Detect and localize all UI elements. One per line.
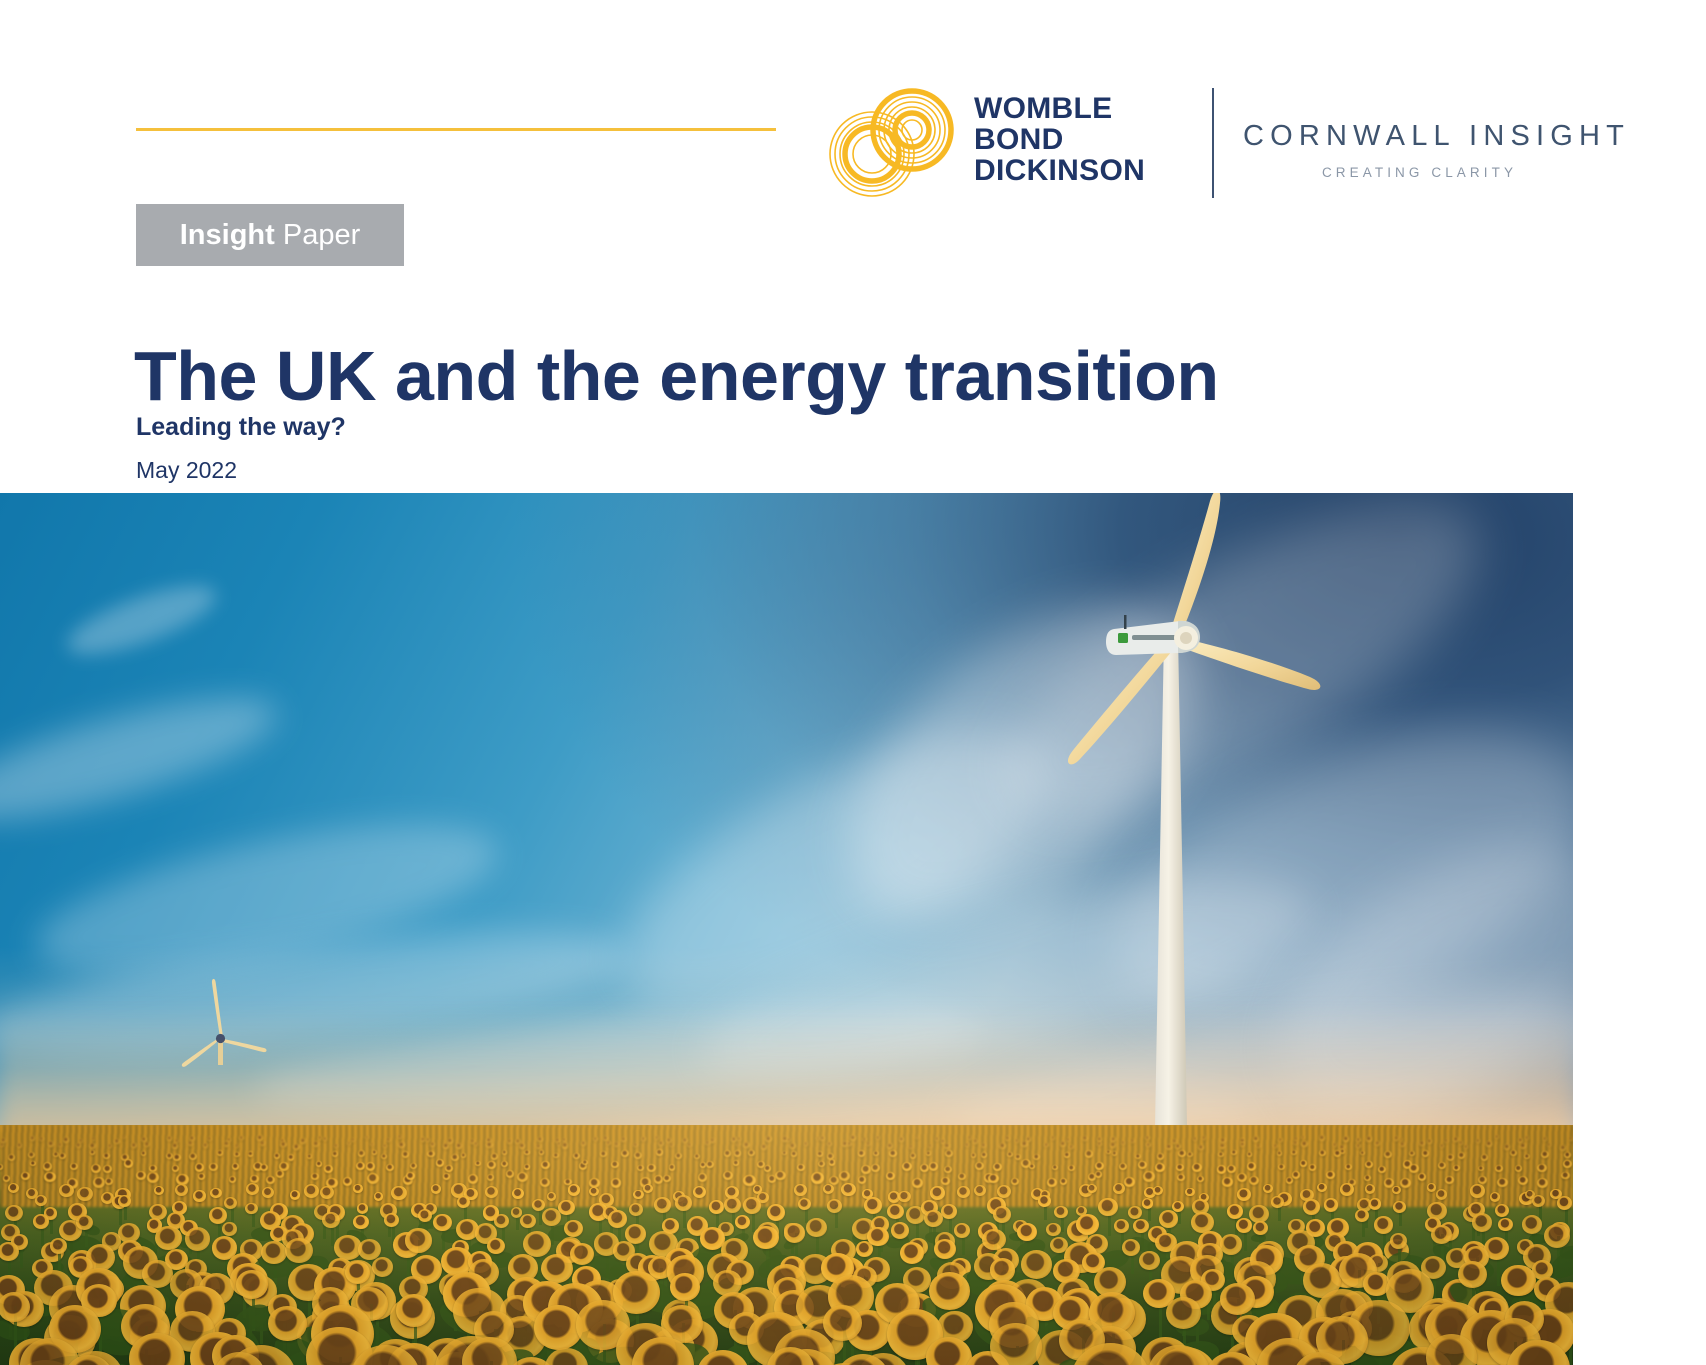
sunflower-leaf <box>1457 1257 1495 1281</box>
sunflower-head <box>1547 1143 1551 1147</box>
wind-turbine-icon <box>1060 493 1380 1187</box>
sunflower-head <box>222 1222 236 1235</box>
sunflower-head <box>487 1174 495 1181</box>
sunflower-head <box>1357 1198 1372 1212</box>
sunflower-stem <box>1474 1253 1477 1292</box>
sunflower-head <box>607 1279 632 1302</box>
sunflower-stem <box>915 1334 918 1365</box>
sunflower-head <box>501 1161 508 1167</box>
sunflower-head <box>131 1143 137 1148</box>
sunflower-head <box>77 1187 93 1201</box>
sunflower-leaf <box>1335 1248 1356 1262</box>
sunflower-stem <box>843 1250 846 1288</box>
sunflower-head <box>1409 1151 1415 1157</box>
sunflower-head <box>198 1173 205 1180</box>
sunflower-head <box>1101 1298 1146 1339</box>
sunflower-stem <box>551 1217 554 1245</box>
sunflower-stem <box>1476 1257 1479 1295</box>
sunflower-stem <box>804 1357 807 1365</box>
sunflower-stem <box>949 1211 952 1235</box>
sunflower-leaf <box>1545 1243 1573 1285</box>
sunflower-head <box>616 1323 676 1365</box>
sunflower-leaf <box>125 1270 162 1291</box>
sunflower-head <box>723 1171 733 1180</box>
sunflower-leaf <box>1073 1276 1100 1294</box>
sunflower-stem <box>58 1246 61 1272</box>
sunflower-leaf <box>1199 1256 1239 1290</box>
sunflower-stem <box>1016 1346 1019 1365</box>
sunflower-head <box>1054 1206 1067 1218</box>
sunflower-head <box>253 1162 263 1171</box>
sunflower-head <box>120 1285 166 1327</box>
sunflower-stem <box>1148 1203 1151 1220</box>
sunflower-head <box>520 1214 536 1229</box>
sunflower-stem <box>225 1248 228 1286</box>
sunflower-head <box>396 1294 432 1327</box>
sunflower-stem <box>388 1211 391 1237</box>
sunflower-head <box>224 1141 230 1146</box>
sunflower-head <box>512 1188 524 1199</box>
sunflower-stem <box>1079 1231 1082 1266</box>
sunflower-head <box>1119 1163 1127 1171</box>
sunflower-head <box>1537 1164 1546 1173</box>
sunflower-head <box>141 1151 147 1156</box>
sunflower-head <box>1436 1189 1448 1200</box>
sunflower-head <box>320 1186 334 1199</box>
sunflower-stem <box>9 1290 12 1338</box>
sunflower-stem <box>990 1253 993 1292</box>
sunflower-stem <box>1532 1224 1535 1254</box>
sunflower-head <box>405 1228 431 1252</box>
sunflower-head <box>1141 1337 1190 1365</box>
sunflower-head <box>456 1219 479 1240</box>
sunflower-head <box>486 1142 492 1148</box>
sunflower-leaf <box>173 1263 209 1284</box>
sunflower-head <box>1387 1261 1421 1293</box>
sunflower-stem <box>1399 1207 1402 1226</box>
sunflower-head <box>1121 1141 1125 1145</box>
sunflower-leaf <box>107 1359 169 1365</box>
sunflower-head <box>648 1256 673 1279</box>
sunflower-head <box>1365 1161 1372 1168</box>
sunflower-head <box>1291 1150 1297 1155</box>
sunflower-head <box>76 1143 81 1148</box>
sunflower-head <box>1089 1292 1135 1334</box>
sunflower-stem <box>151 1335 154 1365</box>
sunflower-stem <box>1397 1250 1400 1288</box>
sunflower-head <box>974 1185 986 1196</box>
sunflower-head <box>441 1247 472 1276</box>
sunflower-head <box>103 1165 113 1174</box>
sunflower-head <box>1193 1137 1197 1141</box>
sunflower-head <box>1135 1154 1141 1160</box>
page-subtitle: Leading the way? <box>136 413 346 442</box>
sunflower-head <box>1112 1151 1117 1156</box>
sunflower-head <box>1094 1267 1126 1297</box>
sunflower-head <box>34 1270 74 1306</box>
sunflower-head <box>974 1253 1003 1280</box>
sunflower-leaf <box>1361 1325 1439 1365</box>
sunflower-leaf <box>803 1286 853 1322</box>
sunflower-head <box>1066 1138 1070 1142</box>
sunflower-head <box>1011 1178 1019 1185</box>
sunflower-head <box>1155 1233 1176 1253</box>
sunflower-head <box>1525 1136 1529 1140</box>
sunflower-head <box>1190 1255 1224 1286</box>
sunflower-head <box>165 1249 188 1270</box>
sunflower-head <box>173 1154 181 1161</box>
sunflower-head <box>10 1360 82 1365</box>
sunflower-head <box>186 1272 220 1303</box>
sunflower-head <box>1 1138 7 1143</box>
sunflower-stem <box>671 1226 674 1251</box>
sunflower-head <box>1479 1298 1508 1325</box>
sunflower-head <box>1501 1265 1535 1297</box>
sunflower-head <box>112 1195 127 1209</box>
sunflower-head <box>903 1267 931 1293</box>
sunflower-head <box>268 1294 297 1321</box>
sunflower-head <box>1486 1141 1492 1147</box>
sunflower-head <box>975 1284 1029 1334</box>
sunflower-head <box>1240 1142 1245 1146</box>
sunflower-head <box>1278 1138 1282 1142</box>
sunflower-head <box>4 1291 44 1328</box>
sunflower-head <box>1220 1138 1226 1143</box>
sunflower-head <box>1461 1241 1487 1265</box>
sunflower-stem <box>73 1307 76 1365</box>
sunflower-head <box>553 1153 558 1158</box>
sunflower-leaf <box>272 1228 306 1250</box>
sunflower-stem <box>1505 1225 1508 1247</box>
sunflower-stem <box>1072 1313 1075 1365</box>
sunflower-head <box>1326 1171 1335 1179</box>
sunflower-head <box>1148 1226 1167 1243</box>
sunflower-stem <box>933 1218 936 1246</box>
sunflower-head <box>796 1285 844 1329</box>
sunflower-leaf <box>662 1306 699 1334</box>
sunflower-head <box>1345 1164 1352 1170</box>
sunflower-leaf <box>616 1302 645 1328</box>
sunflower-head <box>1557 1196 1572 1210</box>
sunflower-head <box>443 1173 450 1180</box>
sunflower-head <box>188 1141 193 1145</box>
sunflower-head <box>1202 1136 1207 1140</box>
sunflower-head <box>524 1150 529 1155</box>
sunflower-leaf <box>986 1280 1020 1310</box>
sunflower-head <box>658 1141 663 1146</box>
sunflower-head <box>1422 1150 1429 1157</box>
sunflower-leaf <box>1094 1246 1131 1274</box>
sunflower-head <box>443 1143 449 1149</box>
sunflower-head <box>386 1138 391 1143</box>
cover-header: WOMBLE BOND DICKINSON CORNWALL INSIGHT C… <box>0 0 1706 493</box>
sunflower-head <box>500 1295 536 1328</box>
sunflower-head <box>975 1162 984 1170</box>
sunflower-head <box>1519 1192 1533 1205</box>
sunflower-head <box>1175 1144 1181 1149</box>
sunflower-head <box>470 1139 475 1144</box>
sunflower-stem <box>1459 1295 1462 1347</box>
sunflower-stem <box>145 1326 148 1365</box>
sunflower-head <box>452 1240 469 1256</box>
sunflower-head <box>1386 1269 1434 1313</box>
sunflower-head <box>765 1136 771 1142</box>
sunflower-head <box>1490 1192 1501 1202</box>
sunflower-head <box>827 1142 832 1147</box>
sunflower-head <box>1277 1151 1282 1156</box>
sunflower-leaf <box>95 1317 158 1360</box>
sunflower-head <box>334 1144 339 1148</box>
sunflower-stem <box>636 1292 639 1363</box>
sunflower-stem <box>486 1233 489 1267</box>
sunflower-stem <box>1202 1222 1205 1256</box>
sunflower-head <box>633 1143 638 1147</box>
sunflower-leaf <box>1430 1311 1482 1350</box>
sunflower-head <box>915 1136 919 1139</box>
sunflower-head <box>1510 1150 1517 1156</box>
sunflower-head <box>406 1172 415 1180</box>
sunflower-head <box>724 1150 731 1157</box>
sunflower-head <box>468 1251 492 1273</box>
sunflower-head <box>827 1153 834 1160</box>
sunflower-head <box>1277 1295 1324 1338</box>
sunflower-head <box>1159 1210 1178 1228</box>
sunflower-head <box>393 1232 421 1257</box>
sunflower-head <box>468 1174 478 1183</box>
sunflower-stem <box>1158 1234 1161 1262</box>
sunflower-leaf <box>925 1231 948 1244</box>
sunflower-head <box>603 1206 618 1220</box>
sunflower-head <box>121 1154 128 1161</box>
sunflower-stem <box>1061 1212 1064 1232</box>
sunflower-stem <box>218 1357 221 1365</box>
sunflower-leaf <box>1350 1349 1397 1365</box>
sunflower-head <box>58 1143 62 1147</box>
sunflower-head <box>487 1238 504 1254</box>
sunflower-head <box>748 1150 755 1156</box>
sunflower-head <box>993 1163 1002 1171</box>
sunflower-stem <box>243 1268 246 1318</box>
sunflower-head <box>485 1186 499 1199</box>
sunflower-head <box>735 1215 750 1229</box>
sunflower-head <box>673 1191 684 1202</box>
sunflower-stem <box>527 1294 530 1351</box>
sunflower-stem <box>1358 1270 1361 1327</box>
sunflower-stem <box>918 1247 921 1277</box>
sunflower-head <box>773 1277 804 1305</box>
sunflower-head <box>1232 1315 1266 1347</box>
sunflower-head <box>167 1212 186 1229</box>
sunflower-head <box>706 1161 714 1168</box>
sunflower-head <box>9 1338 64 1365</box>
sunflower-head <box>457 1196 470 1208</box>
sunflower-head <box>821 1253 854 1283</box>
sunflower-stem <box>1112 1312 1115 1365</box>
sunflower-stem <box>20 1242 23 1268</box>
sunflower-stem <box>1149 1260 1152 1291</box>
sunflower-stem <box>1111 1349 1114 1365</box>
sunflower-leaf <box>330 1311 400 1365</box>
sunflower-leaf <box>689 1270 737 1312</box>
sunflower-leaf <box>1535 1309 1573 1336</box>
sunflower-head <box>391 1186 406 1200</box>
sunflower-head <box>193 1190 205 1201</box>
sunflower-head <box>1059 1319 1105 1361</box>
sunflower-head <box>1133 1219 1149 1233</box>
sunflower-stem <box>110 1288 113 1331</box>
sunflower-stem <box>1347 1272 1350 1324</box>
sunflower-head <box>1143 1171 1155 1182</box>
sunflower-head <box>280 1142 286 1148</box>
sunflower-head <box>1046 1223 1061 1236</box>
sunflower-head <box>1247 1152 1252 1157</box>
sunflower-stem <box>430 1209 433 1229</box>
sunflower-stem <box>1357 1306 1360 1356</box>
sunflower-leaf <box>1262 1252 1312 1289</box>
sunflower-head <box>837 1354 890 1365</box>
sunflower-head <box>1497 1178 1507 1187</box>
sunflower-leaf <box>770 1343 849 1365</box>
sunflower-stem <box>1168 1219 1171 1248</box>
sunflower-stem <box>734 1250 737 1291</box>
sunflower-head <box>981 1152 987 1157</box>
sunflower-head <box>76 1215 92 1230</box>
sunflower-head <box>926 1151 931 1156</box>
sunflower-head <box>311 1173 319 1180</box>
sunflower-head <box>846 1310 891 1351</box>
sunflower-leaf <box>639 1285 687 1316</box>
sunflower-stem <box>418 1240 421 1280</box>
sunflower-head <box>767 1347 814 1365</box>
sunflower-stem <box>618 1219 621 1248</box>
sunflower-stem <box>293 1239 296 1272</box>
sunflower-stem <box>728 1283 731 1326</box>
sunflower-head <box>926 1337 972 1365</box>
sunflower-stem <box>1131 1247 1134 1274</box>
badge-label-light: Paper <box>275 219 360 251</box>
sunflower-head <box>858 1353 909 1365</box>
sunflower-stem <box>816 1228 819 1259</box>
sunflower-stem <box>864 1249 867 1275</box>
sunflower-leaf <box>438 1272 487 1300</box>
sunflower-head <box>662 1218 679 1234</box>
sunflower-head <box>1476 1139 1480 1143</box>
sunflower-head <box>366 1162 375 1170</box>
sunflower-head <box>147 1218 163 1232</box>
sunflower-stem <box>1231 1316 1234 1365</box>
sunflower-head <box>76 1268 122 1310</box>
sunflower-head <box>50 1238 68 1254</box>
sunflower-head <box>28 1152 35 1159</box>
sunflower-head <box>562 1138 566 1142</box>
sunflower-head <box>209 1207 227 1224</box>
sunflower-stem <box>1002 1214 1005 1241</box>
sunflower-head <box>1139 1251 1160 1270</box>
sunflower-head <box>1130 1139 1135 1144</box>
sunflower-head <box>311 1305 374 1363</box>
sunflower-head <box>232 1163 239 1170</box>
sunflower-head <box>1206 1352 1259 1365</box>
sunflower-head <box>494 1214 509 1228</box>
sunflower-head <box>189 1153 197 1160</box>
sunflower-head <box>199 1273 234 1305</box>
sunflower-head <box>1178 1150 1186 1157</box>
sunflower-head <box>1237 1188 1251 1200</box>
sunflower-stem <box>1439 1317 1442 1365</box>
sunflower-stem <box>10 1232 13 1260</box>
sunflower-head <box>0 1292 30 1322</box>
sunflower-head <box>1222 1341 1280 1365</box>
sunflower-stem <box>252 1250 255 1285</box>
sunflower-head <box>351 1287 388 1321</box>
sunflower-head <box>141 1137 147 1142</box>
sunflower-head <box>898 1293 935 1327</box>
sunflower-head <box>246 1183 259 1195</box>
sunflower-head <box>1287 1230 1315 1256</box>
sunflower-stem <box>186 1285 189 1336</box>
cornwall-insight-name: CORNWALL INSIGHT <box>1243 120 1596 153</box>
sunflower-head <box>115 1188 131 1202</box>
sunflower-stem <box>582 1254 585 1290</box>
sunflower-head <box>568 1184 581 1196</box>
sunflower-head <box>1532 1260 1554 1280</box>
sunflower-stem <box>1342 1340 1345 1365</box>
sunflower-stem <box>1451 1357 1454 1365</box>
sunflower-stem <box>1482 1222 1485 1252</box>
sunflower-head <box>1348 1300 1409 1357</box>
sunflower-stem <box>279 1234 282 1260</box>
sunflower-head <box>775 1171 785 1180</box>
sunflower-head <box>451 1154 459 1161</box>
sunflower-head <box>33 1214 49 1229</box>
sunflower-head <box>445 1165 453 1173</box>
sunflower-head <box>548 1283 603 1333</box>
sunflower-head <box>245 1203 258 1215</box>
sunflower-head <box>665 1248 695 1276</box>
sunflower-stem <box>308 1282 311 1343</box>
sunflower-head <box>1026 1137 1031 1142</box>
sunflower-stem <box>989 1266 992 1310</box>
sunflower-head <box>1237 1261 1276 1297</box>
sunflower-head <box>1517 1239 1534 1255</box>
sunflower-stem <box>693 1341 696 1365</box>
sunflower-head <box>1250 1245 1282 1275</box>
sunflower-leaf <box>586 1252 629 1284</box>
sunflower-head <box>655 1136 659 1139</box>
sunflower-stem <box>724 1268 727 1319</box>
sunflower-head <box>506 1170 515 1178</box>
sunflower-head <box>687 1216 708 1236</box>
sunflower-leaf <box>1045 1330 1112 1365</box>
sunflower-stem <box>1006 1260 1009 1300</box>
sunflower-leaf <box>63 1310 117 1341</box>
sunflower-head <box>1082 1252 1105 1273</box>
sunflower-stem <box>1159 1293 1162 1341</box>
sunflower-head <box>988 1174 998 1183</box>
sunflower-head <box>1532 1195 1545 1207</box>
sunflower-head <box>439 1273 469 1301</box>
sunflower-leaf <box>685 1239 725 1272</box>
sunflower-head <box>1199 1193 1209 1202</box>
sunflower-head <box>356 1162 365 1170</box>
sunflower-head <box>189 1136 195 1141</box>
sunflower-head <box>753 1226 779 1250</box>
sunflower-head <box>941 1177 950 1185</box>
sunflower-stem <box>42 1268 45 1298</box>
sunflower-head <box>1217 1165 1227 1174</box>
sunflower-leaf <box>1445 1278 1488 1315</box>
sunflower-head <box>576 1280 623 1323</box>
